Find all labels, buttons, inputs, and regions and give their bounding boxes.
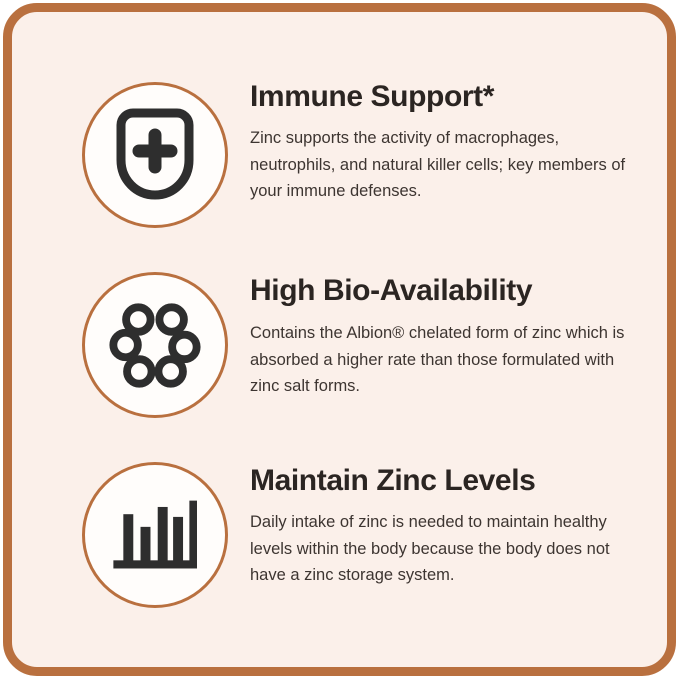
feature-text-maintain-zinc-levels: Maintain Zinc Levels Daily intake of zin…	[250, 452, 627, 589]
feature-text-immune-support: Immune Support* Zinc supports the activi…	[250, 72, 627, 205]
feature-title: Immune Support*	[250, 80, 627, 113]
feature-list: Immune Support* Zinc supports the activi…	[12, 12, 667, 667]
bar-chart-icon	[113, 497, 197, 573]
feature-body: Contains the Albion® chelated form of zi…	[250, 320, 627, 400]
icon-badge-immune-support	[82, 82, 228, 228]
feature-title: Maintain Zinc Levels	[250, 464, 627, 497]
feature-item-bio-availability: High Bio-Availability Contains the Albio…	[82, 262, 627, 418]
feature-item-maintain-zinc-levels: Maintain Zinc Levels Daily intake of zin…	[82, 452, 627, 608]
feature-title: High Bio-Availability	[250, 274, 627, 307]
feature-item-immune-support: Immune Support* Zinc supports the activi…	[82, 72, 627, 228]
infographic-panel: Immune Support* Zinc supports the activi…	[3, 3, 676, 676]
icon-badge-bio-availability	[82, 272, 228, 418]
feature-body: Zinc supports the activity of macrophage…	[250, 125, 627, 205]
icon-badge-maintain-zinc-levels	[82, 462, 228, 608]
molecule-icon	[106, 296, 204, 394]
feature-text-bio-availability: High Bio-Availability Contains the Albio…	[250, 262, 627, 400]
feature-body: Daily intake of zinc is needed to mainta…	[250, 509, 627, 589]
zinc-benefits-infographic: Immune Support* Zinc supports the activi…	[0, 0, 679, 679]
shield-plus-icon	[109, 105, 201, 205]
